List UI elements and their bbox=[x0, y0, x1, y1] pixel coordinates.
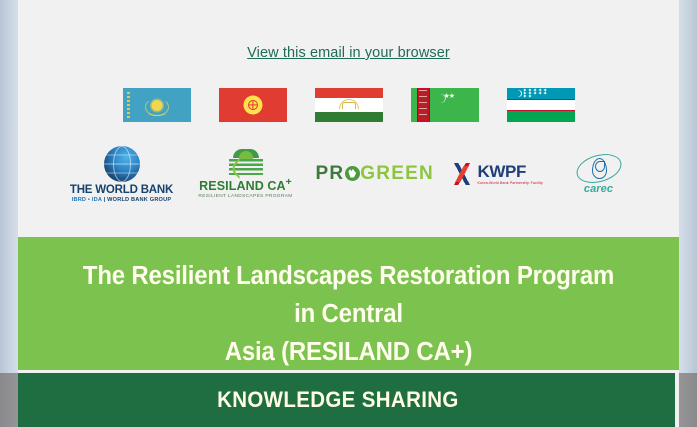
carec-swirl bbox=[595, 161, 605, 172]
resiland-hill bbox=[233, 149, 259, 158]
turkmenistan-flag: ★★ bbox=[411, 88, 479, 122]
world-bank-logo: THE WORLD BANK IBRD • IDA | WORLD BANK G… bbox=[68, 146, 176, 203]
kwpf-name: KWPF bbox=[478, 163, 543, 180]
world-bank-subtitle: IBRD • IDA | WORLD BANK GROUP bbox=[68, 197, 176, 203]
kazakhstan-ornament bbox=[127, 92, 130, 118]
world-bank-group: WORLD BANK GROUP bbox=[107, 197, 171, 203]
uzbekistan-band-green bbox=[507, 111, 575, 122]
progreen-wordmark: PRGREEN bbox=[316, 163, 434, 185]
newsletter-title: The Resilient Landscapes Restoration Pro… bbox=[79, 257, 618, 371]
kyrgyzstan-tunduk-bar-v bbox=[252, 101, 253, 109]
newsletter-title-line-2: Asia (RESILAND CA+) bbox=[79, 333, 618, 371]
partner-logos-row: THE WORLD BANK IBRD • IDA | WORLD BANK G… bbox=[18, 144, 679, 204]
tajikistan-band-green bbox=[315, 112, 383, 122]
uzbekistan-crescent-icon bbox=[513, 90, 520, 97]
progreen-leaf-icon bbox=[345, 166, 360, 181]
resiland-plus: + bbox=[286, 177, 292, 188]
tajikistan-crown bbox=[342, 102, 356, 109]
tajikistan-band-red bbox=[315, 88, 383, 98]
newsletter-hero-banner: The Resilient Landscapes Restoration Pro… bbox=[18, 237, 679, 370]
kazakhstan-eagle bbox=[147, 108, 166, 116]
world-bank-divider: | bbox=[104, 197, 106, 203]
turkmenistan-stars: ★★ bbox=[444, 93, 455, 100]
kazakhstan-flag bbox=[123, 88, 191, 122]
resiland-logo: RESILAND CA+ RESILIENT LANDSCAPES PROGRA… bbox=[198, 149, 294, 199]
tajikistan-flag bbox=[315, 88, 383, 122]
newsletter-title-line-1: The Resilient Landscapes Restoration Pro… bbox=[79, 257, 618, 333]
kwpf-text-block: KWPF Korea-World Bank Partnership Facili… bbox=[478, 163, 543, 185]
kwpf-zigzag-accent bbox=[453, 166, 471, 182]
kwpf-mark-icon bbox=[450, 161, 474, 187]
progreen-part-two: GREEN bbox=[360, 163, 434, 184]
uzbekistan-line-top bbox=[507, 99, 575, 100]
turkmenistan-crescent-icon bbox=[434, 94, 443, 103]
progreen-part-one: PR bbox=[316, 163, 345, 184]
carec-mark-icon bbox=[576, 153, 622, 185]
country-flags-row: ★★ ✦✦✦✦✦✦✦✦✦✦✦✦ bbox=[18, 88, 679, 122]
kwpf-subtitle: Korea-World Bank Partnership Facility bbox=[478, 181, 543, 185]
preheader: View this email in your browser bbox=[18, 0, 679, 62]
world-bank-name: THE WORLD BANK bbox=[68, 184, 176, 196]
carec-logo: carec bbox=[568, 153, 630, 195]
resiland-name-text: RESILAND CA bbox=[199, 179, 286, 193]
uzbekistan-flag: ✦✦✦✦✦✦✦✦✦✦✦✦ bbox=[507, 88, 575, 122]
email-body: View this email in your browser bbox=[18, 0, 679, 427]
world-bank-globe-icon bbox=[104, 146, 140, 182]
resiland-name: RESILAND CA+ bbox=[198, 177, 294, 193]
kyrgyzstan-flag bbox=[219, 88, 287, 122]
world-bank-ibrd-ida: IBRD • IDA bbox=[72, 197, 102, 203]
uzbekistan-line-bottom bbox=[507, 110, 575, 111]
resiland-landscape-icon bbox=[229, 149, 263, 175]
progreen-logo: PRGREEN bbox=[316, 163, 428, 185]
section-band-label: KNOWLEDGE SHARING bbox=[217, 387, 459, 413]
resiland-subtitle: RESILIENT LANDSCAPES PROGRAM bbox=[198, 194, 294, 199]
section-band-knowledge-sharing: KNOWLEDGE SHARING bbox=[18, 373, 675, 427]
turkmenistan-guls bbox=[419, 90, 427, 120]
browser-viewport: View this email in your browser bbox=[0, 0, 697, 427]
uzbekistan-stars: ✦✦✦✦✦✦✦✦✦✦✦✦ bbox=[523, 90, 549, 99]
view-in-browser-link[interactable]: View this email in your browser bbox=[247, 45, 450, 61]
kwpf-logo: KWPF Korea-World Bank Partnership Facili… bbox=[450, 161, 546, 187]
